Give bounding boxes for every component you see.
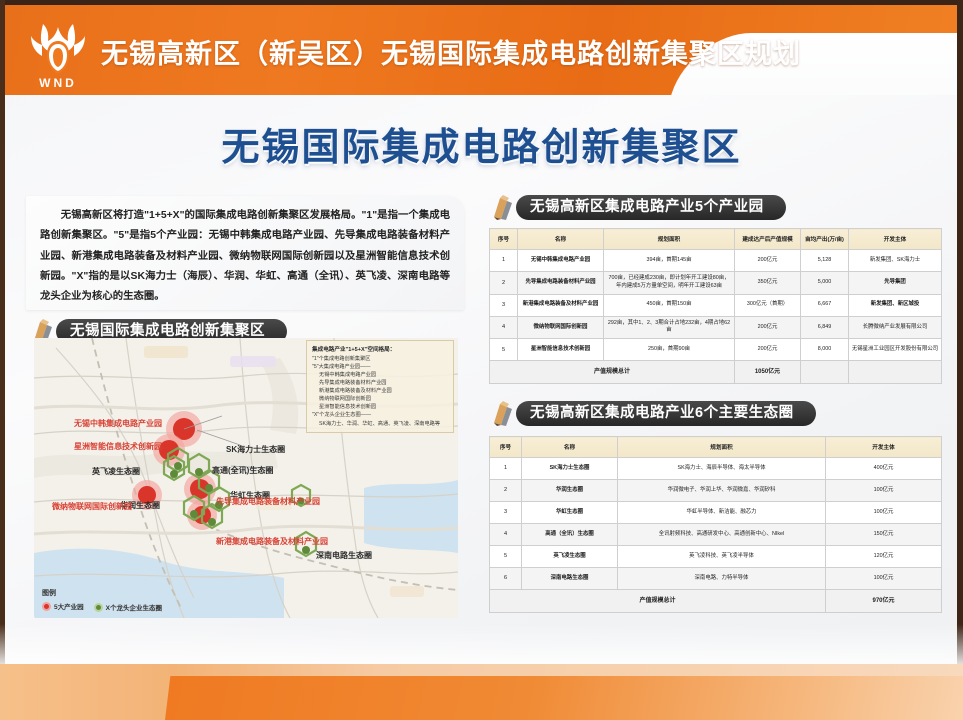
logo-wordmark: WND bbox=[27, 76, 89, 90]
th-index: 序号 bbox=[490, 229, 518, 250]
region-map[interactable]: 无锡中韩集成电路产业园 星洲智能信息技术创新园 英飞凌生态圈 华润生态圈 SK海… bbox=[34, 338, 458, 618]
header-title: 无锡高新区（新吴区）无锡国际集成电路创新集聚区规划 bbox=[101, 32, 801, 71]
total-value: 970亿元 bbox=[826, 590, 942, 613]
cell-value: 400亿元 bbox=[826, 458, 942, 480]
table-parks-header-row: 序号 名称 规划面积 建成达产后产值规模 亩均产出(万/亩) 开发主体 bbox=[490, 229, 942, 250]
cell-index: 1 bbox=[490, 458, 522, 480]
table-parks[interactable]: 序号 名称 规划面积 建成达产后产值规模 亩均产出(万/亩) 开发主体 1 无锡… bbox=[489, 228, 942, 384]
cell-name: 英飞凌生态圈 bbox=[522, 546, 618, 568]
infobox-line-1: "5"大集成电路产业园—— bbox=[312, 363, 448, 371]
table-row[interactable]: 3 华虹生态圈 华虹半导体、新洁能、融芯力 100亿元 bbox=[490, 502, 942, 524]
infobox-park-3: 微纳物联网国际创新园 bbox=[312, 395, 448, 403]
legend-parks-label: 5大产业园 bbox=[54, 601, 84, 611]
table-row[interactable]: 4 高通（全讯）生态圈 全讯射频科技、高通研发中心、高通创新中心、NIkel 1… bbox=[490, 524, 942, 546]
cell-name: 高通（全讯）生态圈 bbox=[522, 524, 618, 546]
table-row[interactable]: 3 新港集成电路装备及材料产业园 450亩，首期150亩 300亿元（首期） 6… bbox=[490, 294, 942, 316]
frame-edge-right bbox=[957, 0, 963, 720]
cell-name: 微纳物联网国际创新园 bbox=[518, 316, 604, 339]
map-label-5: 高通(全讯)生态圈 bbox=[212, 465, 273, 476]
infobox-line-2: "X"个龙头企业生态圈—— bbox=[312, 411, 448, 419]
cell-output: 6,667 bbox=[801, 294, 849, 316]
th-area: 规划面积 bbox=[604, 229, 735, 250]
infobox-line-0: "1"个集成电路创新集聚区 bbox=[312, 355, 448, 363]
cell-value: 120亿元 bbox=[826, 546, 942, 568]
th-value: 开发主体 bbox=[826, 437, 942, 458]
th-developer: 开发主体 bbox=[849, 229, 942, 250]
cell-developer: 先导集团 bbox=[849, 272, 942, 295]
cell-scale: 300亿元（首期） bbox=[735, 294, 801, 316]
cell-area: 292亩，其中1、2、3期合计占地232亩，4期占地62亩 bbox=[604, 316, 735, 339]
cell-scale: 200亿元 bbox=[735, 339, 801, 361]
th-output: 亩均产出(万/亩) bbox=[801, 229, 849, 250]
table-parks-wrapper[interactable]: 序号 名称 规划面积 建成达产后产值规模 亩均产出(万/亩) 开发主体 1 无锡… bbox=[489, 228, 941, 384]
poster-page: WND 无锡高新区（新吴区）无锡国际集成电路创新集聚区规划 无锡国际集成电路创新… bbox=[0, 0, 963, 720]
legend-green-dot-icon bbox=[94, 603, 103, 612]
infobox-park-2: 新港集成电路装备及材料产业园 bbox=[312, 387, 448, 395]
cell-scale: 200亿元 bbox=[735, 316, 801, 339]
table-row[interactable]: 1 无锡中韩集成电路产业园 394亩，首期145亩 200亿元 5,128 新发… bbox=[490, 250, 942, 272]
total-value: 1050亿元 bbox=[735, 361, 801, 384]
cell-area: 394亩，首期145亩 bbox=[604, 250, 735, 272]
background-fade bbox=[0, 624, 963, 664]
infobox-park-4: 星洲智能信息技术创新园 bbox=[312, 403, 448, 411]
cell-index: 1 bbox=[490, 250, 518, 272]
cell-index: 3 bbox=[490, 294, 518, 316]
cell-name: SK海力士生态圈 bbox=[522, 458, 618, 480]
lotus-icon bbox=[27, 21, 89, 77]
footer-orange-band bbox=[0, 664, 963, 720]
cell-area: 450亩，首期150亩 bbox=[604, 294, 735, 316]
cell-developer: 新发集团、SK海力士 bbox=[849, 250, 942, 272]
infobox-ecos: SK海力士、华润、华虹、高通、英飞凌、深南电路等 bbox=[312, 420, 448, 428]
table-ecosystems[interactable]: 序号 名称 规划面积 开发主体 1 SK海力士生态圈 SK海力士、海辰半导体、海… bbox=[489, 436, 942, 613]
map-label-7: 微纳物联网国际创新园 bbox=[52, 501, 132, 512]
map-label-8: 先导集成电路装备材料产业园 bbox=[216, 496, 320, 507]
map-label-2: 英飞凌生态圈 bbox=[92, 466, 140, 477]
cell-name: 深南电路生态圈 bbox=[522, 568, 618, 590]
map-label-9: 新港集成电路装备及材料产业园 bbox=[216, 536, 328, 547]
frame-edge-left bbox=[0, 0, 5, 720]
total-label: 产值规模总计 bbox=[490, 590, 826, 613]
cell-scale: 200亿元 bbox=[735, 250, 801, 272]
table-ecosystems-total-row: 产值规模总计 970亿元 bbox=[490, 590, 942, 613]
cell-scope: SK海力士、海辰半导体、海太半导体 bbox=[618, 458, 826, 480]
th-name: 名称 bbox=[522, 437, 618, 458]
table-row[interactable]: 5 星洲智能信息技术创新园 250亩，首期90亩 200亿元 8,000 无锡星… bbox=[490, 339, 942, 361]
cell-developer: 无锡星洲工业园区开发股份有限公司 bbox=[849, 339, 942, 361]
cell-name: 华润生态圈 bbox=[522, 480, 618, 502]
table-row[interactable]: 6 深南电路生态圈 深南电路、力特半导体 100亿元 bbox=[490, 568, 942, 590]
cell-index: 5 bbox=[490, 546, 522, 568]
cell-index: 2 bbox=[490, 480, 522, 502]
header-banner: WND 无锡高新区（新吴区）无锡国际集成电路创新集聚区规划 bbox=[5, 5, 957, 95]
page-title: 无锡国际集成电路创新集聚区 bbox=[0, 116, 963, 171]
cell-value: 100亿元 bbox=[826, 568, 942, 590]
legend-ecos-label: X个龙头企业生态圈 bbox=[106, 602, 162, 612]
legend-item-ecos: X个龙头企业生态圈 bbox=[94, 602, 162, 612]
cell-value: 100亿元 bbox=[826, 480, 942, 502]
cell-index: 6 bbox=[490, 568, 522, 590]
wnd-logo: WND bbox=[27, 21, 89, 89]
cell-output: 8,000 bbox=[801, 339, 849, 361]
cell-scope: 全讯射频科技、高通研发中心、高通创新中心、NIkel bbox=[618, 524, 826, 546]
infobox-park-0: 无锡中韩集成电路产业园 bbox=[312, 371, 448, 379]
map-infobox: 集成电路产业"1+5+X"空间格局： "1"个集成电路创新集聚区 "5"大集成电… bbox=[306, 340, 454, 433]
intro-paragraph: 无锡高新区将打造"1+5+X"的国际集成电路创新集聚区发展格局。"1"是指一个集… bbox=[40, 206, 450, 307]
cell-name: 新港集成电路装备及材料产业园 bbox=[518, 294, 604, 316]
cell-area: 250亩，首期90亩 bbox=[604, 339, 735, 361]
cell-output: 6,849 bbox=[801, 316, 849, 339]
total-label: 产值规模总计 bbox=[490, 361, 735, 384]
total-spacer-2 bbox=[849, 361, 942, 384]
th-name: 名称 bbox=[518, 229, 604, 250]
table-row[interactable]: 2 先导集成电路装备材料产业园 700亩，已经建成230亩，即计划年开工建设80… bbox=[490, 272, 942, 295]
cell-name: 先导集成电路装备材料产业园 bbox=[518, 272, 604, 295]
cell-value: 100亿元 bbox=[826, 502, 942, 524]
map-label-1: 星洲智能信息技术创新园 bbox=[74, 441, 162, 452]
cell-value: 150亿元 bbox=[826, 524, 942, 546]
cell-index: 2 bbox=[490, 272, 518, 295]
table-row[interactable]: 4 微纳物联网国际创新园 292亩，其中1、2、3期合计占地232亩，4期占地6… bbox=[490, 316, 942, 339]
section-title-table1-label: 无锡高新区集成电路产业5个产业园 bbox=[516, 195, 786, 220]
cell-index: 3 bbox=[490, 502, 522, 524]
table-row[interactable]: 1 SK海力士生态圈 SK海力士、海辰半导体、海太半导体 400亿元 bbox=[490, 458, 942, 480]
table-row[interactable]: 2 华润生态圈 华润微电子、华润上华、华润微嘉、华润矽科 100亿元 bbox=[490, 480, 942, 502]
map-legend: 图例 5大产业园 X个龙头企业生态圈 bbox=[42, 588, 162, 612]
section-title-table2-label: 无锡高新区集成电路产业6个主要生态圈 bbox=[516, 401, 816, 426]
section-title-table1: 无锡高新区集成电路产业5个产业园 bbox=[490, 194, 786, 220]
legend-item-parks: 5大产业园 bbox=[42, 601, 84, 611]
table-parks-total-row: 产值规模总计 1050亿元 bbox=[490, 361, 942, 384]
infobox-park-1: 先导集成电路装备材料产业园 bbox=[312, 379, 448, 387]
cell-developer: 新发集团、新区城投 bbox=[849, 294, 942, 316]
cell-name: 无锡中韩集成电路产业园 bbox=[518, 250, 604, 272]
cell-output: 5,128 bbox=[801, 250, 849, 272]
cell-index: 4 bbox=[490, 524, 522, 546]
th-index: 序号 bbox=[490, 437, 522, 458]
cell-index: 4 bbox=[490, 316, 518, 339]
cell-scale: 350亿元 bbox=[735, 272, 801, 295]
infobox-title: 集成电路产业"1+5+X"空间格局： bbox=[312, 345, 448, 353]
cell-developer: 长腾微纳产业发展有限公司 bbox=[849, 316, 942, 339]
map-label-10: 深南电路生态圈 bbox=[316, 550, 372, 561]
cell-scope: 英飞凌科技、英飞凌半导体 bbox=[618, 546, 826, 568]
cell-index: 5 bbox=[490, 339, 518, 361]
section-title-table2: 无锡高新区集成电路产业6个主要生态圈 bbox=[490, 400, 816, 426]
th-scope: 规划面积 bbox=[618, 437, 826, 458]
table-ecosystems-header-row: 序号 名称 规划面积 开发主体 bbox=[490, 437, 942, 458]
cell-name: 星洲智能信息技术创新园 bbox=[518, 339, 604, 361]
legend-red-dot-icon bbox=[42, 602, 51, 611]
map-label-4: SK海力士生态圈 bbox=[226, 444, 285, 455]
table-row[interactable]: 5 英飞凌生态圈 英飞凌科技、英飞凌半导体 120亿元 bbox=[490, 546, 942, 568]
cell-scope: 华虹半导体、新洁能、融芯力 bbox=[618, 502, 826, 524]
cell-area: 700亩，已经建成230亩，即计划年开工建设80亩，年内建成5万方量单空间，明年… bbox=[604, 272, 735, 295]
map-label-0: 无锡中韩集成电路产业园 bbox=[74, 418, 162, 429]
table-ecosystems-wrapper[interactable]: 序号 名称 规划面积 开发主体 1 SK海力士生态圈 SK海力士、海辰半导体、海… bbox=[489, 436, 941, 613]
cell-output: 5,000 bbox=[801, 272, 849, 295]
intro-card: 无锡高新区将打造"1+5+X"的国际集成电路创新集聚区发展格局。"1"是指一个集… bbox=[26, 196, 464, 310]
legend-title: 图例 bbox=[42, 588, 162, 598]
cell-name: 华虹生态圈 bbox=[522, 502, 618, 524]
cell-scope: 华润微电子、华润上华、华润微嘉、华润矽科 bbox=[618, 480, 826, 502]
cell-scope: 深南电路、力特半导体 bbox=[618, 568, 826, 590]
th-scale: 建成达产后产值规模 bbox=[735, 229, 801, 250]
total-spacer-1 bbox=[801, 361, 849, 384]
